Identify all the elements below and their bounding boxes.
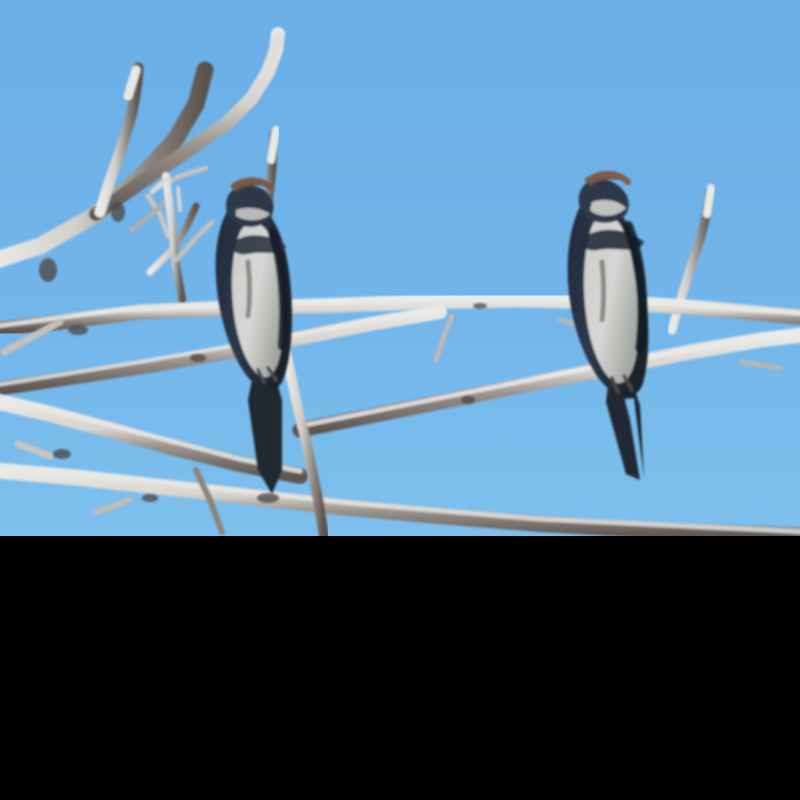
photograph bbox=[0, 0, 800, 536]
bird-photo-card: Golondrina parda Brown-chested Martin Pr… bbox=[0, 0, 800, 800]
title-block: Golondrina parda Brown-chested Martin Pr… bbox=[0, 536, 800, 726]
footer-bar: Golondrina parda — Progne tapera Fotógra… bbox=[0, 726, 800, 800]
photo-haze-overlay bbox=[0, 0, 800, 536]
photo-scene-vector bbox=[0, 0, 800, 536]
